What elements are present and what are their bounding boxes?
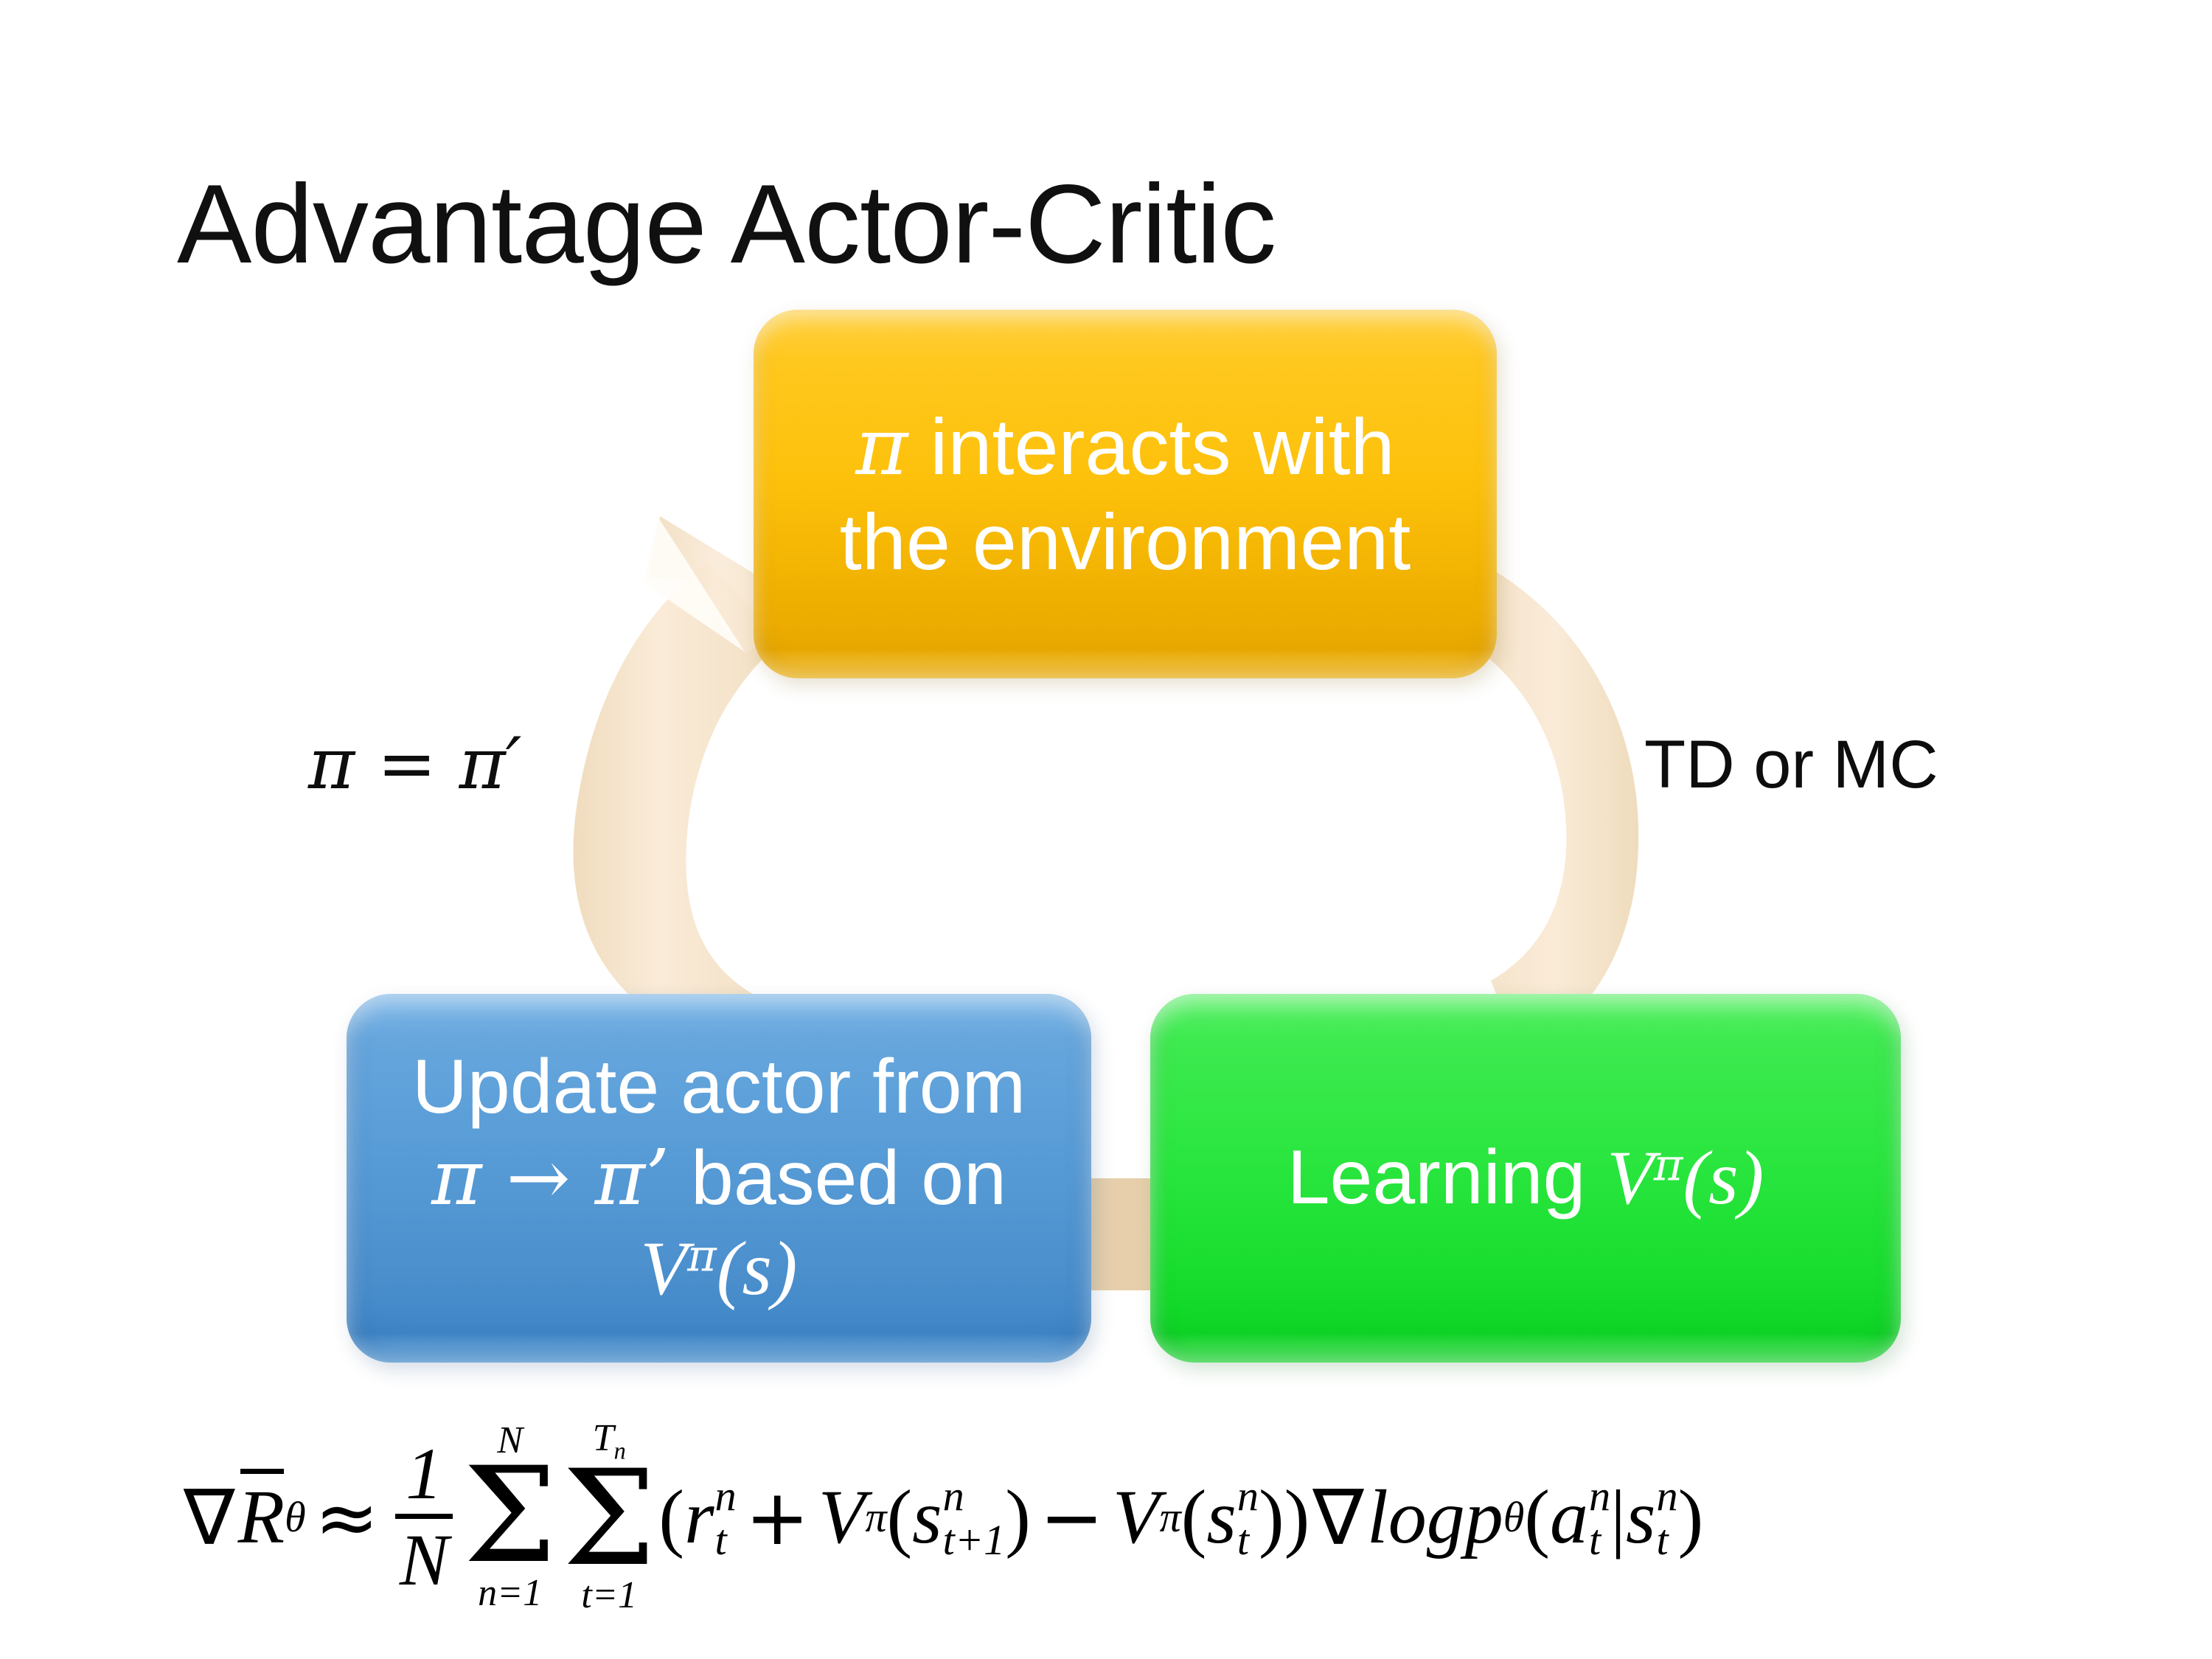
- critic-box-text: Learning Vπ(s): [1169, 1133, 1882, 1224]
- actor-box-line1: Update actor from: [412, 1044, 1026, 1130]
- value-fn-1: V: [818, 1473, 866, 1561]
- nabla-icon: ∇: [184, 1472, 235, 1562]
- p-theta-subscript: θ: [1503, 1492, 1525, 1542]
- actor-critic-connector: [1090, 1178, 1152, 1290]
- state-3: s: [1626, 1473, 1655, 1561]
- prob-close-paren: ): [1678, 1473, 1704, 1561]
- reward-indices: nt: [715, 1474, 737, 1562]
- state-2-indices: nt: [1237, 1474, 1259, 1562]
- action-a: a: [1550, 1473, 1588, 1561]
- r-bar: R: [238, 1473, 285, 1561]
- inner-summation: Tn Σ t=1: [563, 1419, 655, 1615]
- plus-sign: +: [745, 1472, 810, 1562]
- state-1-indices: nt+1: [943, 1474, 1006, 1562]
- prob-open-paren: (: [1524, 1473, 1550, 1561]
- theta-subscript: θ: [285, 1492, 306, 1542]
- state-3-indices: nt: [1656, 1474, 1677, 1562]
- nabla-icon-2: ∇: [1312, 1472, 1364, 1562]
- sigma-icon: Σ: [463, 1455, 556, 1577]
- value-fn-2-close-paren: ): [1259, 1473, 1284, 1561]
- policy-box-text: π interacts with the environment: [773, 400, 1478, 588]
- left-arrow-label: π = π′: [308, 723, 521, 805]
- critic-box-value-fn: Vπ(s): [1607, 1135, 1764, 1220]
- inner-sum-lower-limit: t=1: [581, 1576, 637, 1615]
- pi-symbol: π: [855, 401, 908, 493]
- value-fn-1-close-paren: ): [1005, 1473, 1031, 1561]
- policy-box-line2: the environment: [840, 497, 1411, 586]
- fraction-numerator: 1: [401, 1437, 447, 1514]
- update-actor-box[interactable]: Update actor from π → π’ based on Vπ(s): [347, 994, 1091, 1363]
- outer-summation: N Σ n=1: [463, 1422, 556, 1613]
- close-paren: ): [1284, 1473, 1310, 1561]
- page-title: Advantage Actor-Critic: [177, 168, 1276, 280]
- value-fn-2-open-paren: (: [1181, 1473, 1207, 1561]
- right-arrow-label: TD or MC: [1644, 726, 1938, 804]
- one-over-n-fraction: 1 N: [395, 1437, 453, 1597]
- conditional-bar: |: [1610, 1473, 1626, 1561]
- value-fn-1-exponent: π: [865, 1492, 886, 1542]
- learning-value-box[interactable]: Learning Vπ(s): [1150, 994, 1901, 1363]
- reward-term: r: [684, 1473, 714, 1561]
- action-indices: nt: [1589, 1474, 1610, 1562]
- approx-sign: ≈: [315, 1472, 379, 1562]
- policy-box-line1-rest: interacts with: [908, 402, 1394, 491]
- state-2: s: [1206, 1473, 1236, 1561]
- sigma-icon: Σ: [563, 1458, 655, 1580]
- log-operator: log: [1367, 1473, 1465, 1561]
- state-1: s: [912, 1473, 942, 1561]
- actor-box-value-fn: Vπ(s): [641, 1226, 798, 1311]
- policy-interaction-box[interactable]: π interacts with the environment: [754, 310, 1497, 678]
- probability-p: p: [1465, 1473, 1503, 1561]
- policy-gradient-formula: ∇Rθ ≈ 1 N N Σ n=1 Tn Σ t=1 (rnt +Vπ(snt+…: [181, 1419, 1703, 1615]
- critic-box-prefix: Learning: [1287, 1135, 1607, 1220]
- value-fn-2-exponent: π: [1160, 1492, 1181, 1542]
- actor-box-line2-rest: based on: [669, 1135, 1006, 1221]
- value-fn-1-open-paren: (: [887, 1473, 913, 1561]
- actor-box-text: Update actor from π → π’ based on Vπ(s): [366, 1042, 1072, 1315]
- outer-sum-lower-limit: n=1: [478, 1574, 542, 1613]
- open-paren: (: [658, 1473, 684, 1561]
- value-fn-2: V: [1113, 1473, 1160, 1561]
- actor-box-line2: π → π’: [431, 1133, 669, 1222]
- minus-sign: −: [1040, 1472, 1104, 1562]
- fraction-denominator: N: [395, 1514, 453, 1597]
